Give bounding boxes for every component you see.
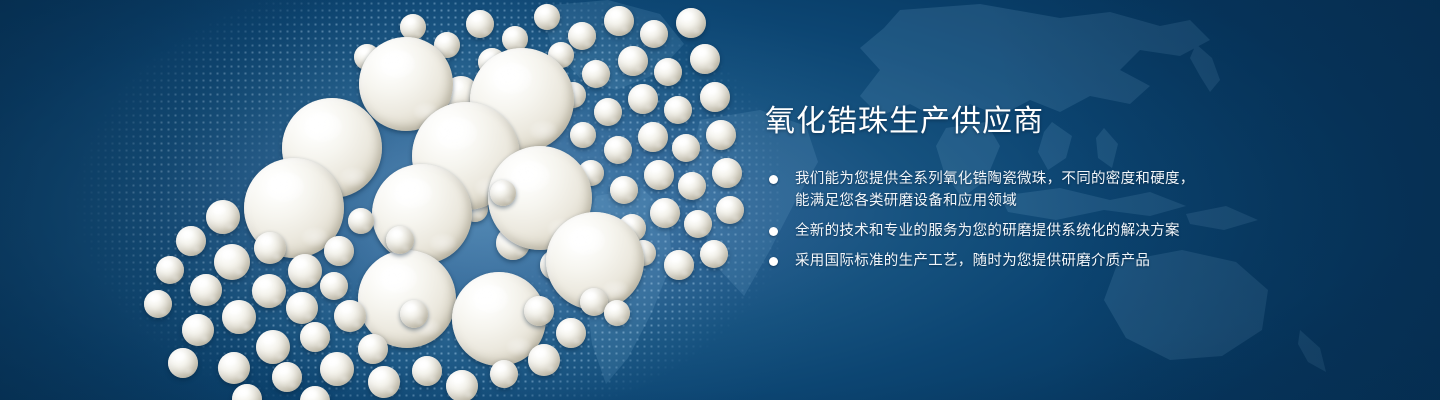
list-item: 我们能为您提供全系列氧化锆陶瓷微珠，不同的密度和硬度， 能满足您各类研磨设备和应… [765,168,1365,212]
hero-banner: 氧化锆珠生产供应商 我们能为您提供全系列氧化锆陶瓷微珠，不同的密度和硬度， 能满… [0,0,1440,400]
dot-bullet-icon [769,257,778,266]
bullet-text: 采用国际标准的生产工艺，随时为您提供研磨介质产品 [795,250,1365,272]
page-title: 氧化锆珠生产供应商 [765,104,1365,140]
banner-content: 氧化锆珠生产供应商 我们能为您提供全系列氧化锆陶瓷微珠，不同的密度和硬度， 能满… [765,104,1365,272]
dot-bullet-icon [769,175,778,184]
list-item: 采用国际标准的生产工艺，随时为您提供研磨介质产品 [765,250,1365,272]
feature-bullet-list: 我们能为您提供全系列氧化锆陶瓷微珠，不同的密度和硬度， 能满足您各类研磨设备和应… [765,168,1365,272]
bullet-text: 能满足您各类研磨设备和应用领域 [795,190,1365,212]
list-item: 全新的技术和专业的服务为您的研磨提供系统化的解决方案 [765,220,1365,242]
dot-bullet-icon [769,227,778,236]
bullet-text: 全新的技术和专业的服务为您的研磨提供系统化的解决方案 [795,220,1365,242]
bullet-text: 我们能为您提供全系列氧化锆陶瓷微珠，不同的密度和硬度， [795,168,1365,190]
